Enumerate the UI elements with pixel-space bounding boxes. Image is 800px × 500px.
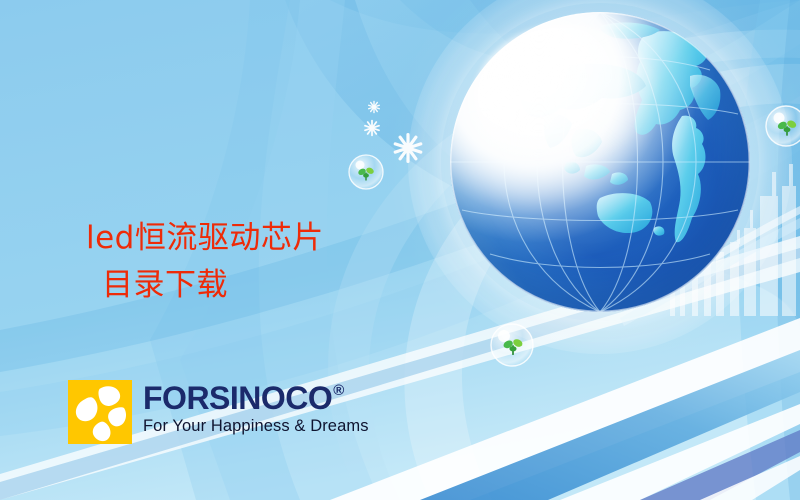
brand-text: FORSINOCO	[143, 382, 332, 414]
brand-name: FORSINOCO ®	[143, 382, 369, 414]
headline-text: led恒流驱动芯片 目录下载	[86, 168, 426, 356]
bubble-bottom-icon	[491, 324, 533, 366]
logo-wordmark: FORSINOCO ® For Your Happiness & Dreams	[143, 380, 369, 436]
headline-line-1: led恒流驱动芯片	[86, 220, 324, 256]
registered-trademark-icon: ®	[333, 383, 344, 398]
headline-line-2: 目录下载	[86, 262, 426, 309]
slide-canvas: led恒流驱动芯片 目录下载 FORSINOCO ® For Your Happ…	[0, 0, 800, 500]
company-logo: FORSINOCO ® For Your Happiness & Dreams	[68, 380, 369, 444]
brand-tagline: For Your Happiness & Dreams	[143, 417, 369, 436]
bubble-right-icon	[766, 106, 800, 146]
pinwheel-flower-icon	[68, 380, 132, 444]
